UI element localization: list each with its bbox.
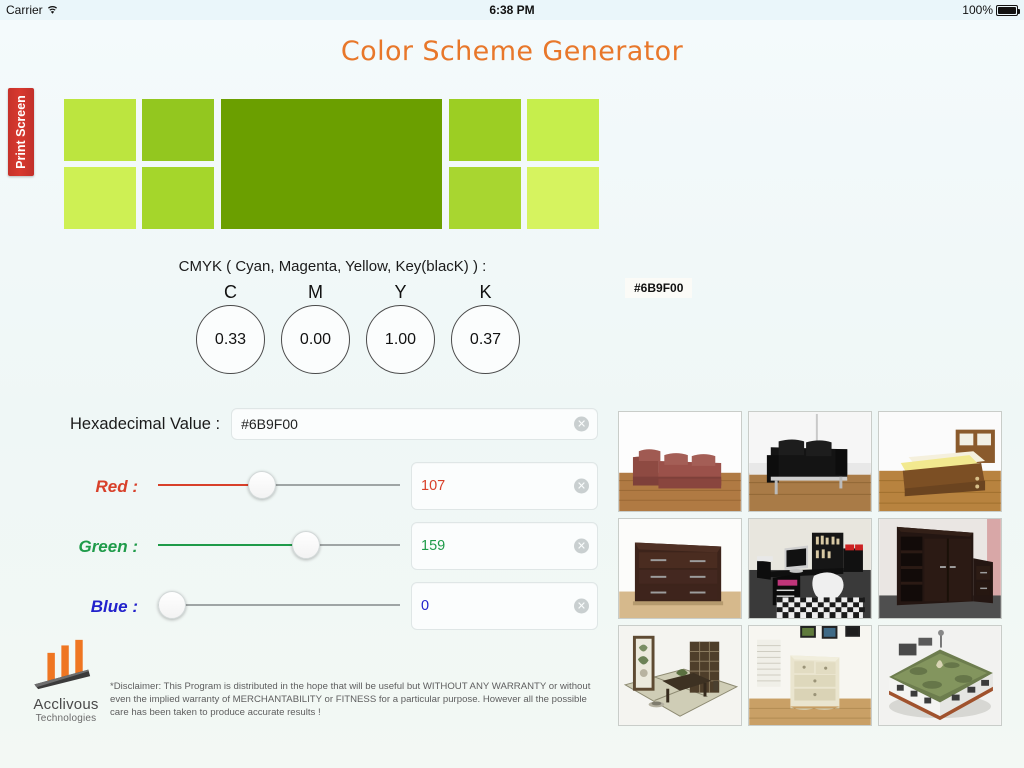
green-label: Green : bbox=[60, 537, 138, 557]
clock: 6:38 PM bbox=[0, 3, 1024, 17]
swatch-left-4[interactable] bbox=[142, 167, 214, 229]
clear-icon[interactable]: ✕ bbox=[574, 417, 589, 432]
thumbnail-brown-leather-sectional-sofa[interactable] bbox=[618, 411, 742, 512]
swatch-left-2[interactable] bbox=[64, 167, 136, 229]
cmyk-channel-c-value: 0.33 bbox=[196, 305, 265, 374]
cmyk-channel-k-value: 0.37 bbox=[451, 305, 520, 374]
thumbnail-office-desk-room[interactable] bbox=[748, 518, 872, 619]
blue-value-field[interactable]: 0 ✕ bbox=[411, 582, 598, 630]
swatch-right-2[interactable] bbox=[449, 167, 521, 229]
thumbnail-japanese-tatami-room[interactable] bbox=[618, 625, 742, 726]
hex-input-label: Hexadecimal Value : bbox=[70, 415, 220, 434]
page-title: Color Scheme Generator bbox=[0, 36, 1024, 67]
cmyk-channel-m: M 0.00 bbox=[281, 282, 350, 374]
brand-subtitle: Technologies bbox=[20, 713, 112, 724]
palette-swatches bbox=[64, 99, 601, 229]
blue-value: 0 bbox=[421, 598, 429, 614]
rgb-row-green: Green : 159 ✕ bbox=[0, 515, 610, 575]
preview-hex-badge: #6B9F00 bbox=[625, 278, 692, 298]
hex-input-field[interactable]: #6B9F00 ✕ bbox=[231, 408, 598, 440]
hex-input-row: Hexadecimal Value : #6B9F00 ✕ bbox=[70, 408, 600, 440]
rgb-row-blue: Blue : 0 ✕ bbox=[0, 575, 610, 635]
rgb-sliders-section: Red : 107 ✕ Green : 159 ✕ bbox=[0, 455, 610, 635]
swatch-column-right-2 bbox=[527, 99, 599, 229]
red-slider-thumb[interactable] bbox=[248, 471, 276, 499]
print-screen-button[interactable]: Print Screen bbox=[8, 88, 34, 176]
blue-label: Blue : bbox=[60, 597, 138, 617]
clear-icon[interactable]: ✕ bbox=[574, 479, 589, 494]
green-slider[interactable] bbox=[158, 543, 400, 547]
thumbnail-building-aerial-green-roof[interactable] bbox=[878, 625, 1002, 726]
swatch-column-right-1 bbox=[449, 99, 521, 229]
thumbnail-cream-dresser-with-wall-art[interactable] bbox=[748, 625, 872, 726]
cmyk-channel-y: Y 1.00 bbox=[366, 282, 435, 374]
battery-full-icon bbox=[996, 5, 1018, 16]
cmyk-channel-y-name: Y bbox=[366, 282, 435, 303]
rgb-row-red: Red : 107 ✕ bbox=[0, 455, 610, 515]
green-slider-thumb[interactable] bbox=[292, 531, 320, 559]
room-preview[interactable]: #6B9F00 bbox=[618, 98, 1002, 305]
red-slider-fill bbox=[158, 484, 260, 486]
cmyk-section-label: CMYK ( Cyan, Magenta, Yellow, Key(blacK)… bbox=[64, 258, 601, 275]
green-slider-fill bbox=[158, 544, 309, 546]
clear-icon[interactable]: ✕ bbox=[574, 539, 589, 554]
thumbnail-black-leather-sofa[interactable] bbox=[748, 411, 872, 512]
battery-percent-label: 100% bbox=[962, 3, 993, 17]
brand-logo: Acclivous Technologies bbox=[20, 638, 112, 724]
cmyk-channel-c: C 0.33 bbox=[196, 282, 265, 374]
cmyk-channel-m-name: M bbox=[281, 282, 350, 303]
blue-slider-thumb[interactable] bbox=[158, 591, 186, 619]
cmyk-channel-m-value: 0.00 bbox=[281, 305, 350, 374]
swatch-right-1[interactable] bbox=[449, 99, 521, 161]
cmyk-channel-c-name: C bbox=[196, 282, 265, 303]
clear-icon[interactable]: ✕ bbox=[574, 599, 589, 614]
print-screen-label: Print Screen bbox=[14, 95, 28, 169]
swatch-column-left-1 bbox=[64, 99, 136, 229]
thumbnail-grid bbox=[618, 411, 1002, 736]
cmyk-values-row: C 0.33 M 0.00 Y 1.00 K 0.37 bbox=[196, 282, 520, 374]
brand-name: Acclivous bbox=[20, 696, 112, 713]
disclaimer-text: *Disclaimer: This Program is distributed… bbox=[110, 680, 602, 720]
swatch-main-selected[interactable] bbox=[221, 99, 442, 229]
swatch-right-4[interactable] bbox=[527, 167, 599, 229]
hex-input-value: #6B9F00 bbox=[241, 416, 298, 432]
green-value-field[interactable]: 159 ✕ bbox=[411, 522, 598, 570]
swatch-column-left-2 bbox=[142, 99, 214, 229]
swatch-left-3[interactable] bbox=[142, 99, 214, 161]
status-bar: Carrier 6:38 PM 100% bbox=[0, 0, 1024, 20]
swatch-left-1[interactable] bbox=[64, 99, 136, 161]
acclivous-bars-icon bbox=[20, 677, 112, 694]
red-value: 107 bbox=[421, 478, 445, 494]
thumbnail-dark-wardrobe-shelving-unit[interactable] bbox=[878, 518, 1002, 619]
app-root: Carrier 6:38 PM 100% Color Scheme Genera… bbox=[0, 0, 1024, 768]
cmyk-channel-k-name: K bbox=[451, 282, 520, 303]
red-slider[interactable] bbox=[158, 483, 400, 487]
cmyk-channel-k: K 0.37 bbox=[451, 282, 520, 374]
cmyk-channel-y-value: 1.00 bbox=[366, 305, 435, 374]
red-value-field[interactable]: 107 ✕ bbox=[411, 462, 598, 510]
red-label: Red : bbox=[60, 477, 138, 497]
thumbnail-wooden-bed-yellow-bedding[interactable] bbox=[878, 411, 1002, 512]
blue-slider-track bbox=[158, 604, 400, 606]
swatch-right-3[interactable] bbox=[527, 99, 599, 161]
thumbnail-dark-wood-dresser[interactable] bbox=[618, 518, 742, 619]
green-value: 159 bbox=[421, 538, 445, 554]
blue-slider[interactable] bbox=[158, 603, 400, 607]
status-bar-right: 100% bbox=[962, 3, 1018, 17]
